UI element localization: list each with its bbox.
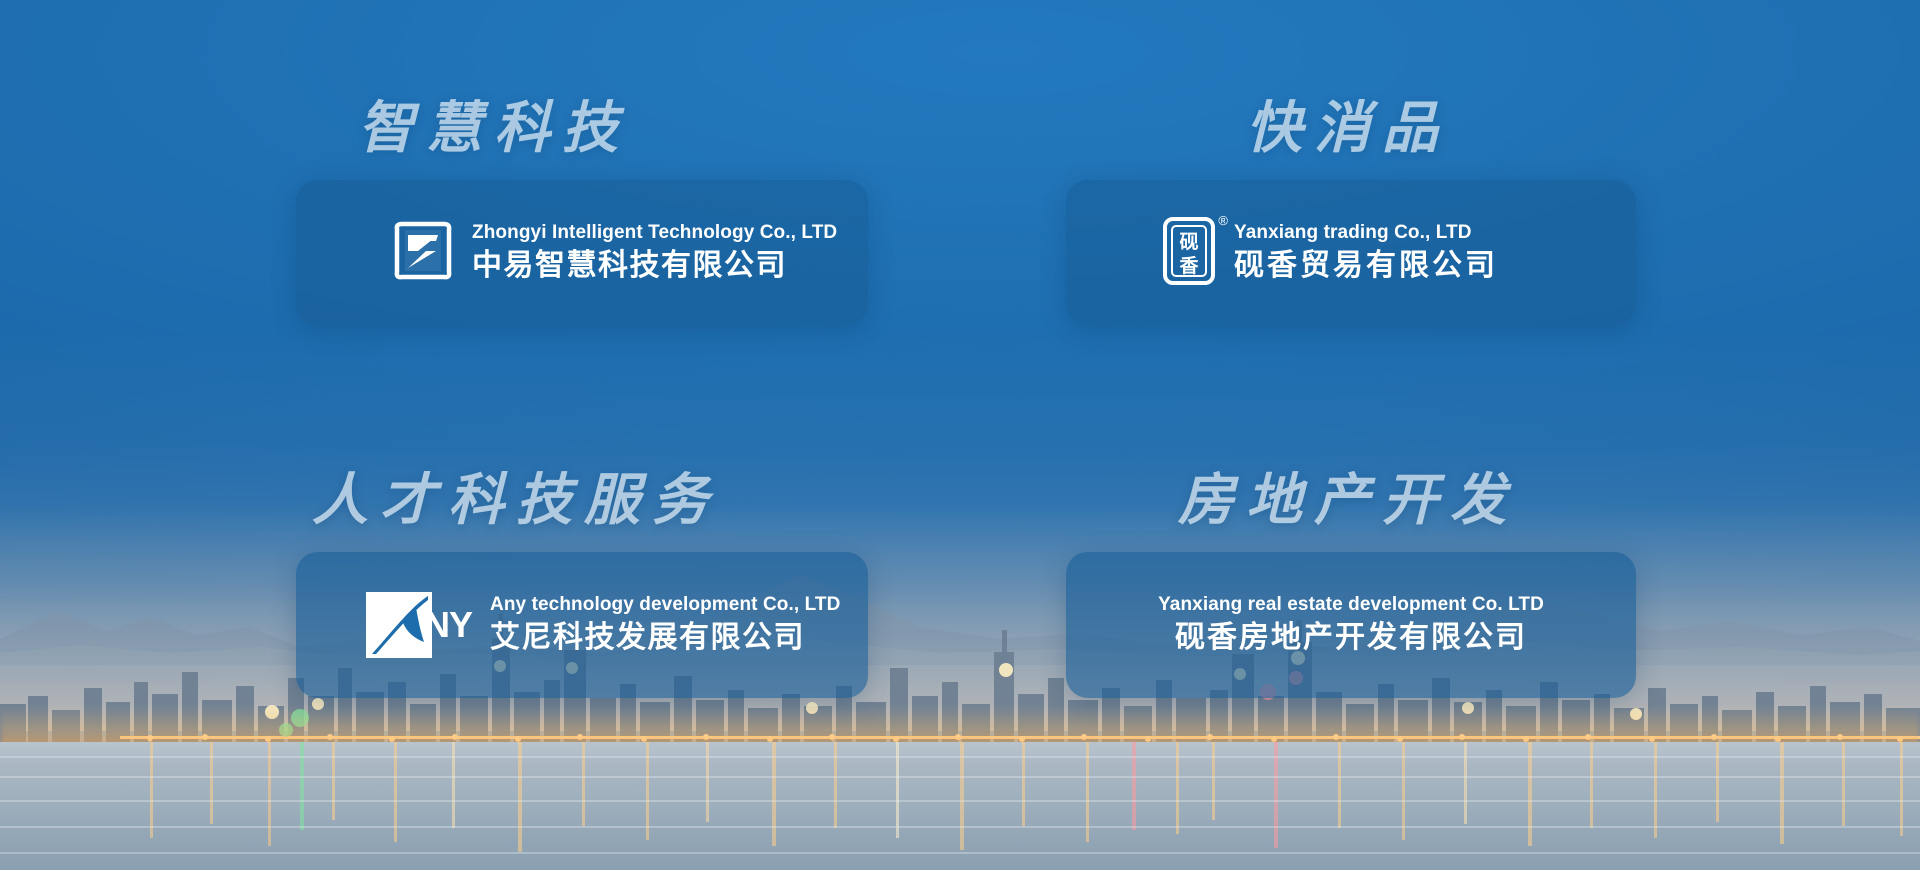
company-name-cn: 砚香房地产开发有限公司	[1175, 618, 1527, 657]
company-name-en: Zhongyi Intelligent Technology Co., LTD	[472, 221, 837, 245]
company-name-en: Any technology development Co., LTD	[490, 593, 840, 617]
sector-title-fmcg: 快消品	[1066, 100, 1636, 156]
business-sectors-grid: 智慧科技 Zhongyi Intelligent Technology Co.,…	[0, 0, 1920, 870]
sector-block-fmcg: 快消品 砚 香 ® Yanxiang trading Co., LTD	[1066, 100, 1636, 326]
company-card-yanxiang-realestate[interactable]: Yanxiang real estate development Co. LTD…	[1066, 552, 1636, 698]
sector-block-realestate: 房地产开发 Yanxiang real estate development C…	[1066, 472, 1636, 698]
zhongyi-z-logo-icon	[392, 220, 454, 287]
any-mountain-logo-icon: NY	[366, 592, 472, 658]
company-banner: 智慧科技 Zhongyi Intelligent Technology Co.,…	[0, 0, 1920, 870]
any-wordmark: NY	[424, 604, 472, 646]
sector-title-tech: 智慧科技	[296, 100, 868, 156]
sector-title-talent: 人才科技服务	[296, 472, 868, 528]
company-card-zhongyi[interactable]: Zhongyi Intelligent Technology Co., LTD …	[296, 180, 868, 326]
company-card-yanxiang-trading[interactable]: 砚 香 ® Yanxiang trading Co., LTD 砚香贸易有限公司	[1066, 180, 1636, 326]
company-name-en: Yanxiang real estate development Co. LTD	[1158, 593, 1544, 617]
company-name-cn: 艾尼科技发展有限公司	[490, 618, 840, 657]
company-name-cn: 中易智慧科技有限公司	[472, 246, 837, 285]
company-name-block: Any technology development Co., LTD 艾尼科技…	[490, 593, 840, 658]
company-name-en: Yanxiang trading Co., LTD	[1234, 221, 1498, 245]
company-name-block: Zhongyi Intelligent Technology Co., LTD …	[472, 221, 837, 286]
sector-block-talent: 人才科技服务 NY Any technology development Co.…	[296, 472, 868, 698]
seal-char-bottom: 香	[1178, 255, 1199, 277]
registered-trademark-icon: ®	[1218, 213, 1228, 228]
company-name-block: Yanxiang real estate development Co. LTD…	[1158, 593, 1544, 658]
company-name-cn: 砚香贸易有限公司	[1234, 246, 1498, 285]
sector-title-realestate: 房地产开发	[1066, 472, 1636, 528]
company-name-block: Yanxiang trading Co., LTD 砚香贸易有限公司	[1234, 221, 1498, 286]
seal-char-top: 砚	[1179, 231, 1198, 253]
company-card-any-technology[interactable]: NY Any technology development Co., LTD 艾…	[296, 552, 868, 698]
sector-block-tech: 智慧科技 Zhongyi Intelligent Technology Co.,…	[296, 100, 868, 326]
yanxiang-seal-logo-icon: 砚 香 ®	[1162, 216, 1216, 291]
